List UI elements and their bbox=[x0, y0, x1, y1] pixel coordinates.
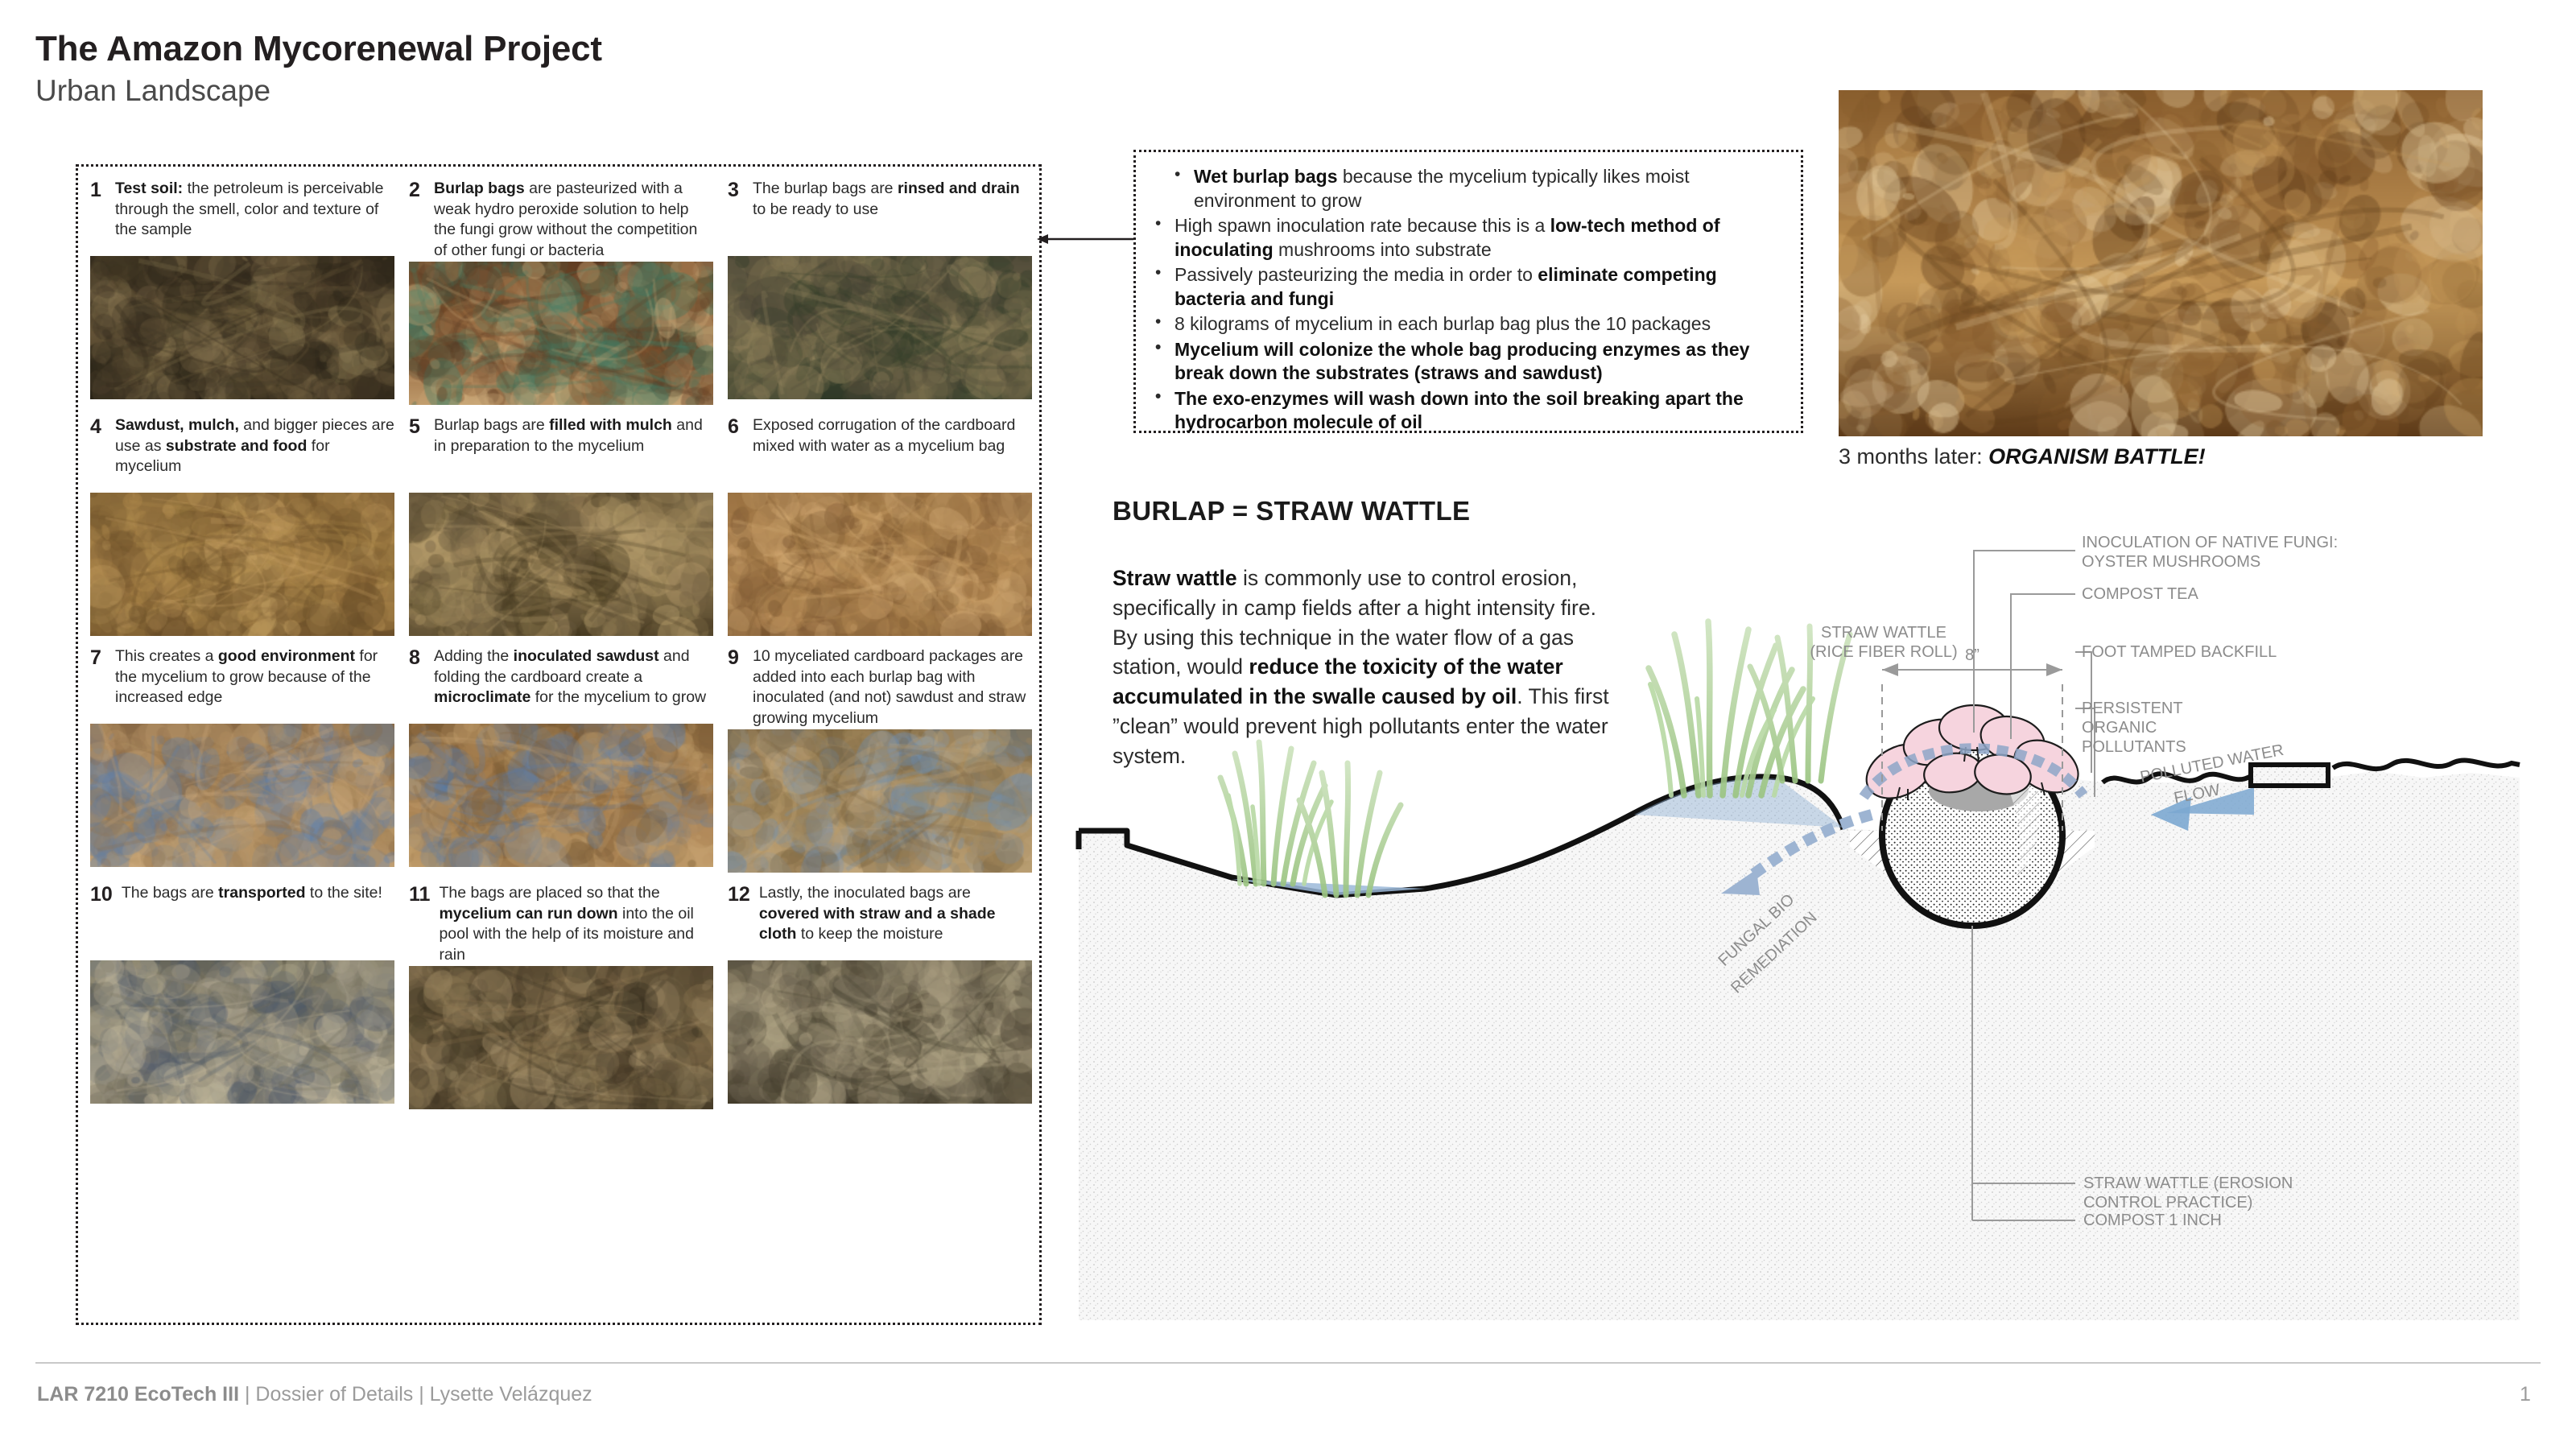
step-text: Sawdust, mulch, and bigger pieces are us… bbox=[115, 415, 394, 493]
step-photo bbox=[90, 256, 394, 399]
step-item: 12Lastly, the inoculated bags are covere… bbox=[728, 883, 1032, 1109]
step-item: 910 myceliated cardboard packages are ad… bbox=[728, 646, 1032, 873]
step-text: The burlap bags are rinsed and drain to … bbox=[753, 179, 1032, 256]
label-compost-inch: COMPOST 1 INCH bbox=[2083, 1212, 2222, 1229]
callout-box: Wet burlap bags because the mycelium typ… bbox=[1133, 150, 1803, 433]
label-persistent-line3: POLLUTANTS bbox=[2082, 738, 2186, 756]
step-number: 2 bbox=[409, 179, 425, 262]
label-compost-tea: COMPOST TEA bbox=[2082, 585, 2199, 603]
mushroom-photo-caption: 3 months later: ORGANISM BATTLE! bbox=[1839, 444, 2206, 469]
step-photo bbox=[728, 960, 1032, 1104]
step-text: The bags are placed so that the mycelium… bbox=[439, 883, 713, 966]
page-title: The Amazon Mycorenewal Project bbox=[35, 31, 602, 68]
callout-item: Passively pasteurizing the media in orde… bbox=[1173, 263, 1788, 311]
step-caption: 12Lastly, the inoculated bags are covere… bbox=[728, 883, 1032, 960]
step-number: 3 bbox=[728, 179, 744, 256]
grass-tufts-left bbox=[1220, 742, 1401, 895]
page-number: 1 bbox=[2520, 1383, 2531, 1406]
step-caption: 1Test soil: the petroleum is perceivable… bbox=[90, 179, 394, 256]
steps-row: 10The bags are transported to the site!1… bbox=[90, 883, 1032, 1109]
compost-block bbox=[2251, 765, 2328, 786]
step-caption: 3The burlap bags are rinsed and drain to… bbox=[728, 179, 1032, 256]
step-text: Burlap bags are filled with mulch and in… bbox=[434, 415, 713, 493]
callout-item: High spawn inoculation rate because this… bbox=[1173, 214, 1788, 262]
step-item: 3The burlap bags are rinsed and drain to… bbox=[728, 179, 1032, 405]
step-item: 2Burlap bags are pasteurized with a weak… bbox=[409, 179, 713, 405]
step-item: 4Sawdust, mulch, and bigger pieces are u… bbox=[90, 415, 394, 636]
step-photo bbox=[409, 493, 713, 636]
step-text: Burlap bags are pasteurized with a weak … bbox=[434, 179, 713, 262]
step-caption: 11The bags are placed so that the myceli… bbox=[409, 883, 713, 966]
callout-item: 8 kilograms of mycelium in each burlap b… bbox=[1173, 312, 1788, 336]
label-straw-wattle-bottom-line2: CONTROL PRACTICE) bbox=[2083, 1194, 2252, 1212]
step-item: 6Exposed corrugation of the cardboard mi… bbox=[728, 415, 1032, 636]
step-caption: 7This creates a good environment for the… bbox=[90, 646, 394, 724]
step-photo bbox=[409, 966, 713, 1109]
step-number: 12 bbox=[728, 883, 750, 960]
step-photo bbox=[728, 493, 1032, 636]
section-diagram: INOCULATION OF NATIVE FUNGI: OYSTER MUSH… bbox=[1071, 531, 2528, 1336]
label-dimension: 8” bbox=[1965, 646, 1979, 664]
step-caption: 910 myceliated cardboard packages are ad… bbox=[728, 646, 1032, 729]
step-photo bbox=[90, 960, 394, 1104]
step-item: 7This creates a good environment for the… bbox=[90, 646, 394, 873]
ground-line-right bbox=[2333, 761, 2520, 770]
label-straw-wattle-top-line1: STRAW WATTLE bbox=[1821, 624, 1946, 642]
steps-row: 4Sawdust, mulch, and bigger pieces are u… bbox=[90, 415, 1032, 636]
step-number: 10 bbox=[90, 883, 113, 960]
step-photo bbox=[409, 724, 713, 867]
step-caption: 5Burlap bags are filled with mulch and i… bbox=[409, 415, 713, 493]
footer-course: LAR 7210 EcoTech III bbox=[37, 1383, 239, 1406]
step-caption: 10The bags are transported to the site! bbox=[90, 883, 394, 960]
steps-grid: 1Test soil: the petroleum is perceivable… bbox=[90, 179, 1032, 1120]
step-item: 5Burlap bags are filled with mulch and i… bbox=[409, 415, 713, 636]
page-subtitle: Urban Landscape bbox=[35, 72, 602, 109]
step-item: 11The bags are placed so that the myceli… bbox=[409, 883, 713, 1109]
step-number: 8 bbox=[409, 646, 425, 724]
step-item: 10The bags are transported to the site! bbox=[90, 883, 394, 1109]
label-inoculation-line2: OYSTER MUSHROOMS bbox=[2082, 553, 2260, 571]
step-caption: 8Adding the inoculated sawdust and foldi… bbox=[409, 646, 713, 724]
step-number: 11 bbox=[409, 883, 430, 966]
step-text: The bags are transported to the site! bbox=[122, 883, 382, 960]
step-number: 7 bbox=[90, 646, 106, 724]
steps-row: 7This creates a good environment for the… bbox=[90, 646, 1032, 873]
step-text: Exposed corrugation of the cardboard mix… bbox=[753, 415, 1032, 493]
step-photo bbox=[728, 729, 1032, 873]
label-straw-wattle-bottom-line1: STRAW WATTLE (EROSION bbox=[2083, 1174, 2293, 1192]
poster-page: The Amazon Mycorenewal Project Urban Lan… bbox=[0, 0, 2576, 1449]
callout-arrow-icon bbox=[1037, 230, 1140, 248]
burlap-section-title: BURLAP = STRAW WATTLE bbox=[1113, 496, 1470, 526]
page-header: The Amazon Mycorenewal Project Urban Lan… bbox=[35, 31, 602, 109]
caption-plain: 3 months later: bbox=[1839, 444, 1988, 469]
step-number: 6 bbox=[728, 415, 744, 493]
step-text: 10 myceliated cardboard packages are add… bbox=[753, 646, 1032, 729]
mushroom-photo bbox=[1839, 90, 2483, 436]
callout-item: The exo-enzymes will wash down into the … bbox=[1173, 387, 1788, 435]
step-caption: 4Sawdust, mulch, and bigger pieces are u… bbox=[90, 415, 394, 493]
soil-mass bbox=[1079, 771, 2520, 1320]
label-inoculation-line1: INOCULATION OF NATIVE FUNGI: bbox=[2082, 534, 2338, 551]
callout-item: Mycelium will colonize the whole bag pro… bbox=[1173, 338, 1788, 386]
step-text: Adding the inoculated sawdust and foldin… bbox=[434, 646, 713, 724]
label-persistent-line1: PERSISTENT bbox=[2082, 700, 2183, 717]
step-caption: 2Burlap bags are pasteurized with a weak… bbox=[409, 179, 713, 262]
step-photo bbox=[728, 256, 1032, 399]
callout-item: Wet burlap bags because the mycelium typ… bbox=[1173, 165, 1788, 213]
step-caption: 6Exposed corrugation of the cardboard mi… bbox=[728, 415, 1032, 493]
footer-rest: | Dossier of Details | Lysette Velázquez bbox=[239, 1383, 592, 1406]
step-photo bbox=[90, 493, 394, 636]
step-number: 5 bbox=[409, 415, 425, 493]
caption-emphasis: ORGANISM BATTLE! bbox=[1988, 444, 2205, 469]
step-photo bbox=[409, 262, 713, 405]
label-straw-wattle-top-line2: (RICE FIBER ROLL) bbox=[1810, 643, 1957, 661]
step-text: This creates a good environment for the … bbox=[115, 646, 394, 724]
step-number: 9 bbox=[728, 646, 744, 729]
step-number: 4 bbox=[90, 415, 106, 493]
step-item: 8Adding the inoculated sawdust and foldi… bbox=[409, 646, 713, 873]
footer-divider bbox=[35, 1362, 2541, 1364]
step-photo bbox=[90, 724, 394, 867]
callout-list: Wet burlap bags because the mycelium typ… bbox=[1136, 152, 1801, 435]
footer-text: LAR 7210 EcoTech III | Dossier of Detail… bbox=[37, 1383, 592, 1406]
label-foot-tamped: FOOT TAMPED BACKFILL bbox=[2082, 643, 2277, 661]
step-text: Lastly, the inoculated bags are covered … bbox=[759, 883, 1032, 960]
step-item: 1Test soil: the petroleum is perceivable… bbox=[90, 179, 394, 405]
steps-row: 1Test soil: the petroleum is perceivable… bbox=[90, 179, 1032, 405]
label-persistent-line2: ORGANIC bbox=[2082, 719, 2157, 737]
step-text: Test soil: the petroleum is perceivable … bbox=[115, 179, 394, 256]
step-number: 1 bbox=[90, 179, 106, 256]
